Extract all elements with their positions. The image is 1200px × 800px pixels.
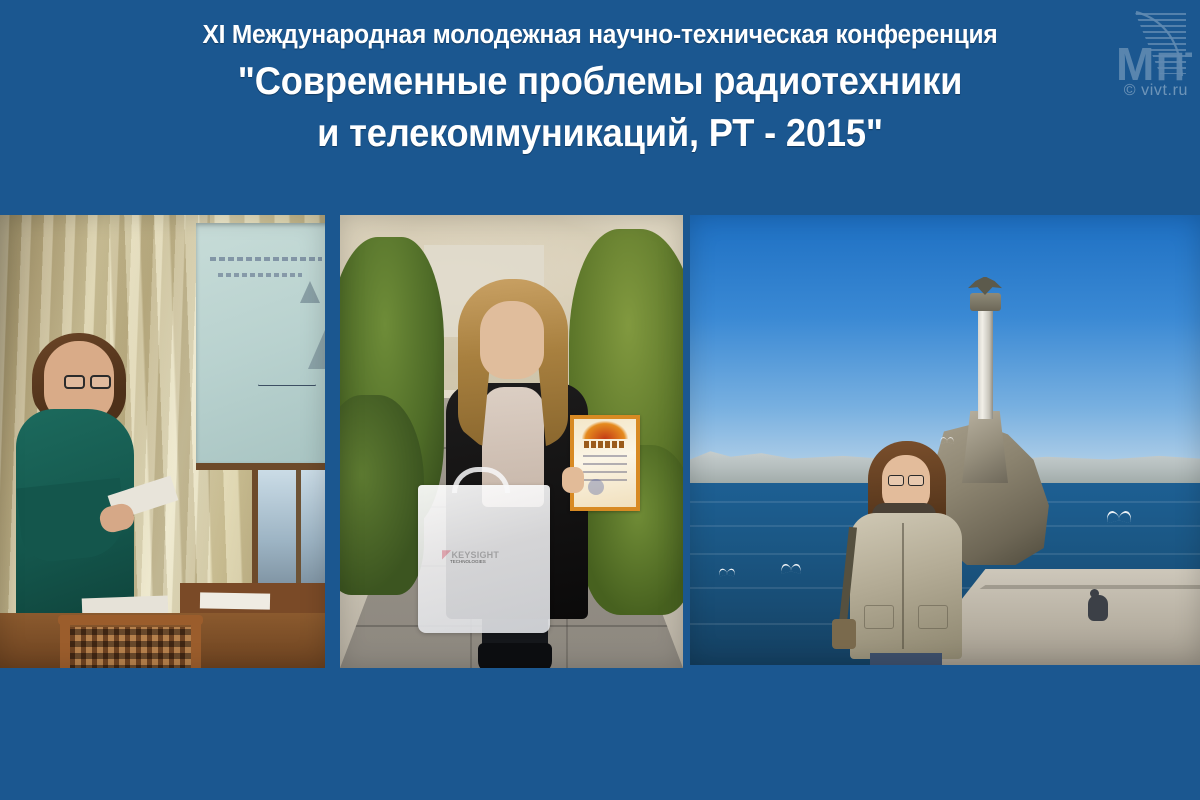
conference-banner: XI Международная молодежная научно-техни… — [0, 0, 1200, 800]
glasses-icon — [64, 375, 116, 389]
glasses-icon — [888, 475, 926, 486]
title-line-2: "Современные проблемы радиотехники — [42, 56, 1158, 108]
window — [258, 463, 325, 593]
photo-presenter — [0, 215, 325, 668]
winner-boots — [478, 643, 552, 668]
hedge-left-lower — [340, 395, 424, 595]
banner-header: XI Международная молодежная научно-техни… — [0, 0, 1200, 212]
title-line-1: XI Международная молодежная научно-техни… — [24, 20, 1176, 50]
slide-triangle-1 — [258, 327, 314, 385]
svg-text:М: М — [1116, 38, 1154, 88]
pigeon-icon — [1088, 595, 1108, 621]
title-line-3: и телекоммуникаций, РТ - 2015" — [42, 108, 1158, 160]
projection-screen — [196, 223, 325, 470]
papers-on-table-2 — [200, 592, 270, 609]
award-winner-figure: ◤KEYSIGHT TECHNOLOGIES — [424, 271, 614, 668]
vivt-logo-icon: М ΠΤ — [1100, 4, 1192, 88]
conference-bag: ◤KEYSIGHT TECHNOLOGIES — [418, 485, 550, 633]
photo-sevastopol — [690, 215, 1200, 665]
wicker-chair — [58, 615, 203, 668]
page-title: XI Международная молодежная научно-техни… — [0, 20, 1200, 160]
seagull-icon — [719, 569, 736, 575]
slide-triangle-3 — [300, 281, 320, 303]
camera-bag — [832, 619, 856, 649]
monument-capital — [970, 293, 1001, 311]
photo-strip: ◤KEYSIGHT TECHNOLOGIES — [0, 215, 1200, 670]
winner-head — [480, 301, 544, 379]
seagull-icon — [781, 564, 802, 571]
seagull-icon — [1106, 511, 1132, 520]
figure-jacket — [850, 513, 962, 659]
slide-triangle-2 — [308, 323, 325, 369]
photo-award-winner: ◤KEYSIGHT TECHNOLOGIES — [340, 215, 683, 668]
bag-logo-subtext: TECHNOLOGIES — [450, 559, 486, 564]
winner-hand — [562, 467, 584, 493]
watermark-text: © vivt.ru — [1124, 82, 1188, 100]
figure-jeans — [870, 653, 942, 665]
monument-column — [978, 307, 993, 419]
sevastopol-figure — [830, 441, 990, 665]
diploma-certificate — [570, 415, 640, 511]
